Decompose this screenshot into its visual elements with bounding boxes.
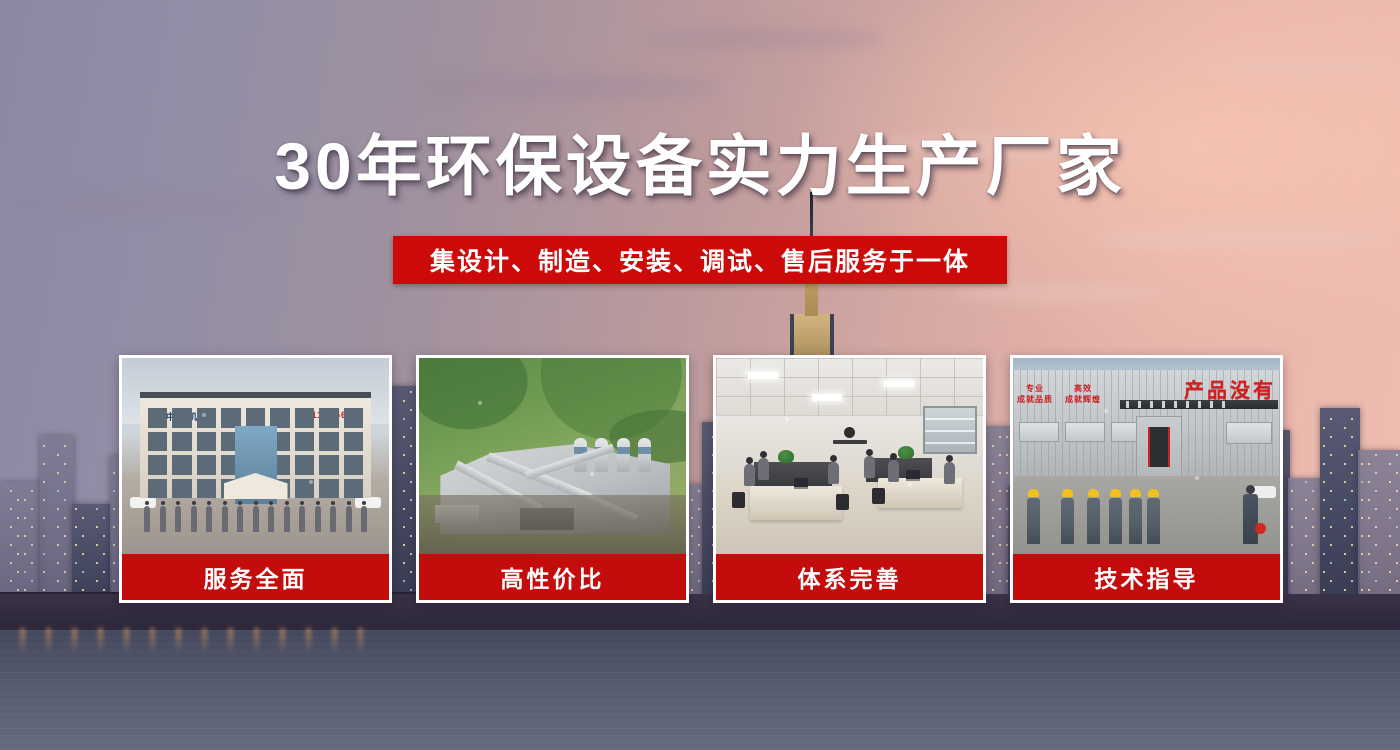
factory-wall-text: 产品没有	[1184, 374, 1276, 403]
card-caption-text: 体系完善	[798, 560, 902, 594]
supervisor-figure	[1243, 494, 1258, 544]
card-caption: 服务全面	[122, 554, 389, 600]
company-headquarters-photo: 中基机械 4113456	[122, 358, 389, 554]
cloud	[644, 30, 884, 48]
cloud	[1204, 60, 1400, 78]
factory-slogan-1: 专业	[1026, 384, 1044, 393]
staff-lineup	[144, 506, 367, 532]
card-caption: 技术指导	[1013, 554, 1280, 600]
feature-card[interactable]: 高性价比	[416, 355, 689, 603]
feature-card[interactable]: 中基机械 4113456 服	[119, 355, 392, 603]
office-interior-photo	[716, 358, 983, 554]
aerial-plant-photo	[419, 358, 686, 554]
promotional-banner: 30年环保设备实力生产厂家 集设计、制造、安装、调试、售后服务于一体 中基机械 …	[0, 0, 1400, 750]
cloud	[420, 75, 720, 99]
workers-briefing-photo: 产品没有 专业 成就品质 高效 成就辉煌	[1013, 358, 1280, 554]
factory-slogan-3: 高效	[1074, 384, 1092, 393]
factory-slogan-4: 成就辉煌	[1065, 395, 1101, 404]
feature-card[interactable]: 产品没有 专业 成就品质 高效 成就辉煌	[1010, 355, 1283, 603]
river-water	[0, 630, 1400, 750]
feature-card[interactable]: 体系完善	[713, 355, 986, 603]
subtitle-banner: 集设计、制造、安装、调试、售后服务于一体	[393, 236, 1007, 284]
card-caption: 体系完善	[716, 554, 983, 600]
cloud	[952, 285, 1172, 301]
feature-card-row: 中基机械 4113456 服	[119, 355, 1283, 603]
card-caption: 高性价比	[419, 554, 686, 600]
factory-slogan-2: 成就品质	[1017, 395, 1053, 404]
subtitle-text: 集设计、制造、安装、调试、售后服务于一体	[430, 242, 970, 278]
card-caption-text: 高性价比	[501, 560, 605, 594]
page-title: 30年环保设备实力生产厂家	[0, 132, 1400, 202]
card-caption-text: 技术指导	[1095, 560, 1199, 594]
cloud	[1092, 225, 1392, 251]
card-caption-text: 服务全面	[204, 560, 308, 594]
red-helmet	[1255, 523, 1266, 534]
